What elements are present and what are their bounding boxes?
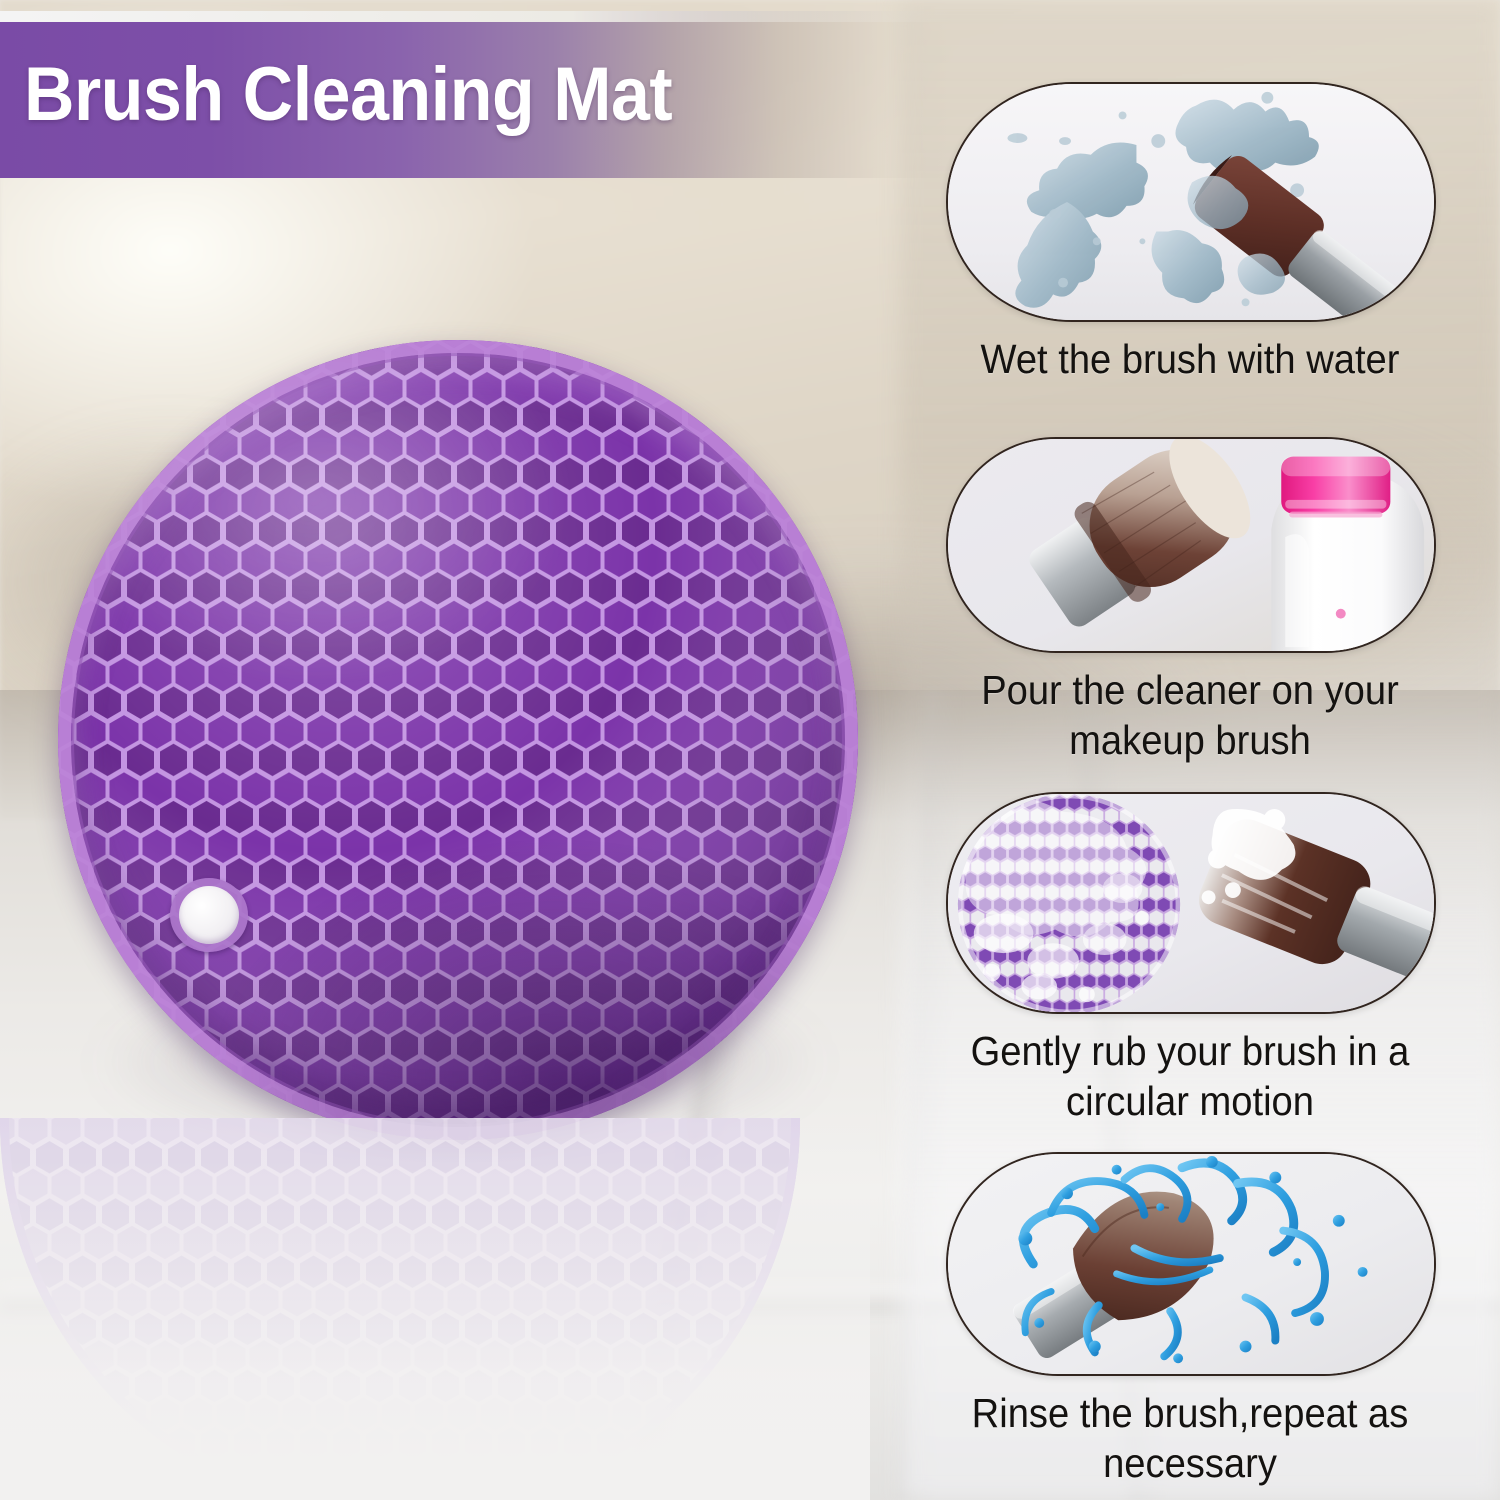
page-title: Brush Cleaning Mat — [24, 35, 672, 155]
banner-top-strip — [0, 11, 952, 22]
step-2-photo — [946, 437, 1436, 653]
soapy-mat-and-brush-icon — [948, 794, 1434, 1012]
title-banner: Brush Cleaning Mat — [0, 11, 952, 178]
step-4: Rinse the brush,repeat as necessary — [930, 1152, 1450, 1488]
step-2: Pour the cleaner on your makeup brush — [930, 437, 1450, 765]
step-4-caption: Rinse the brush,repeat as necessary — [948, 1388, 1432, 1488]
brush-water-splash-icon — [948, 84, 1434, 320]
honeycomb-pattern — [58, 340, 858, 1140]
brush-and-cleanser-bottle-icon — [948, 439, 1434, 651]
step-4-photo — [946, 1152, 1436, 1376]
instruction-steps: Wet the brush with water — [930, 0, 1500, 1500]
hanging-hole — [170, 878, 248, 952]
product-image-mat — [52, 332, 864, 1150]
step-1-caption: Wet the brush with water — [948, 334, 1432, 384]
step-1: Wet the brush with water — [930, 82, 1450, 384]
step-3-photo — [946, 792, 1436, 1014]
step-3-caption: Gently rub your brush in a circular moti… — [948, 1026, 1432, 1126]
step-1-photo — [946, 82, 1436, 322]
step-3: Gently rub your brush in a circular moti… — [930, 792, 1450, 1126]
mat-disc — [58, 340, 858, 1140]
brush-rinse-splash-icon — [948, 1154, 1434, 1374]
step-2-caption: Pour the cleaner on your makeup brush — [948, 665, 1432, 765]
